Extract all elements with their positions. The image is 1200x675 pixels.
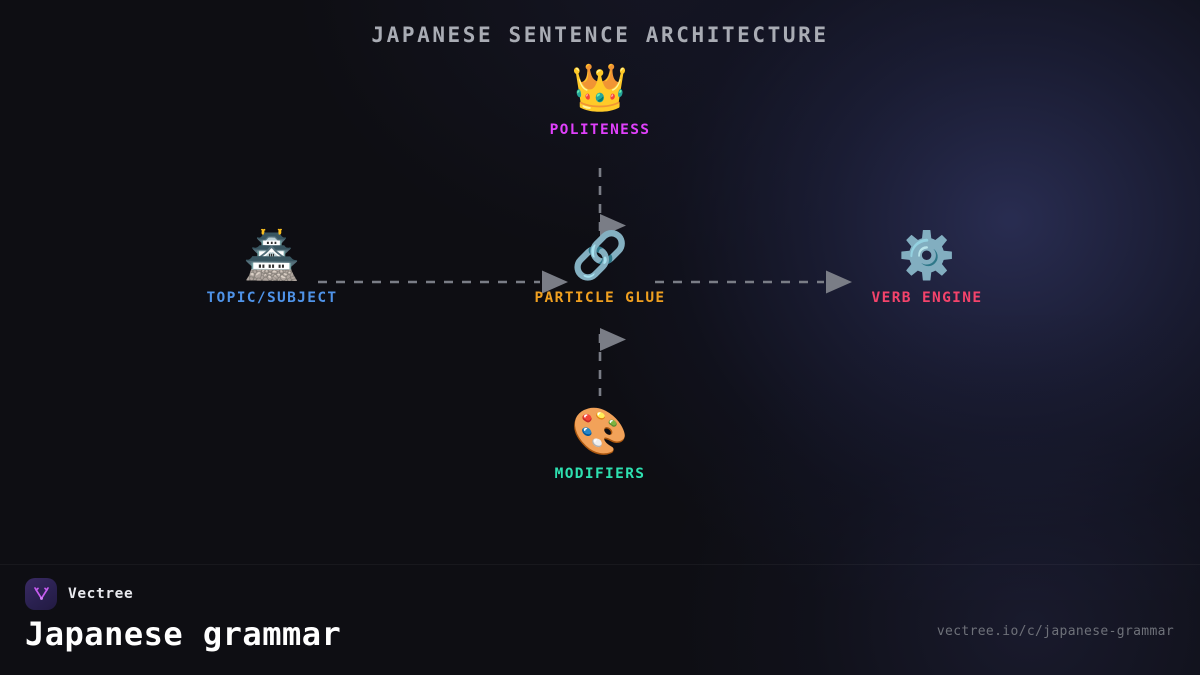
diagram-node-particle-glue[interactable]: 🔗 PARTICLE GLUE [490,226,710,306]
brand-row[interactable]: Vectree [25,578,133,610]
brand-name: Vectree [68,586,133,602]
link-icon: 🔗 [490,226,710,284]
diagram-node-topic-subject[interactable]: 🏯 TOPIC/SUBJECT [162,226,382,306]
diagram-node-label: TOPIC/SUBJECT [162,290,382,306]
vectree-logo-icon [25,578,57,610]
crown-icon: 👑 [490,58,710,116]
diagram-node-label: VERB ENGINE [817,290,1037,306]
gear-icon: ⚙️ [817,226,1037,284]
artist-palette-icon: 🎨 [490,402,710,460]
diagram-node-label: POLITENESS [490,122,710,138]
japanese-castle-icon: 🏯 [162,226,382,284]
diagram-canvas: 👑 POLITENESS 🏯 TOPIC/SUBJECT 🔗 PARTICLE … [0,0,1200,560]
edge-modifiers-to-particle [600,328,626,396]
diagram-node-politeness[interactable]: 👑 POLITENESS [490,58,710,138]
diagram-node-label: MODIFIERS [490,466,710,482]
diagram-node-modifiers[interactable]: 🎨 MODIFIERS [490,402,710,482]
footer: Vectree Japanese grammar vectree.io/c/ja… [0,564,1200,675]
footer-heading: Japanese grammar [25,615,341,653]
diagram-node-label: PARTICLE GLUE [490,290,710,306]
diagram-node-verb-engine[interactable]: ⚙️ VERB ENGINE [817,226,1037,306]
footer-url: vectree.io/c/japanese-grammar [937,624,1174,639]
